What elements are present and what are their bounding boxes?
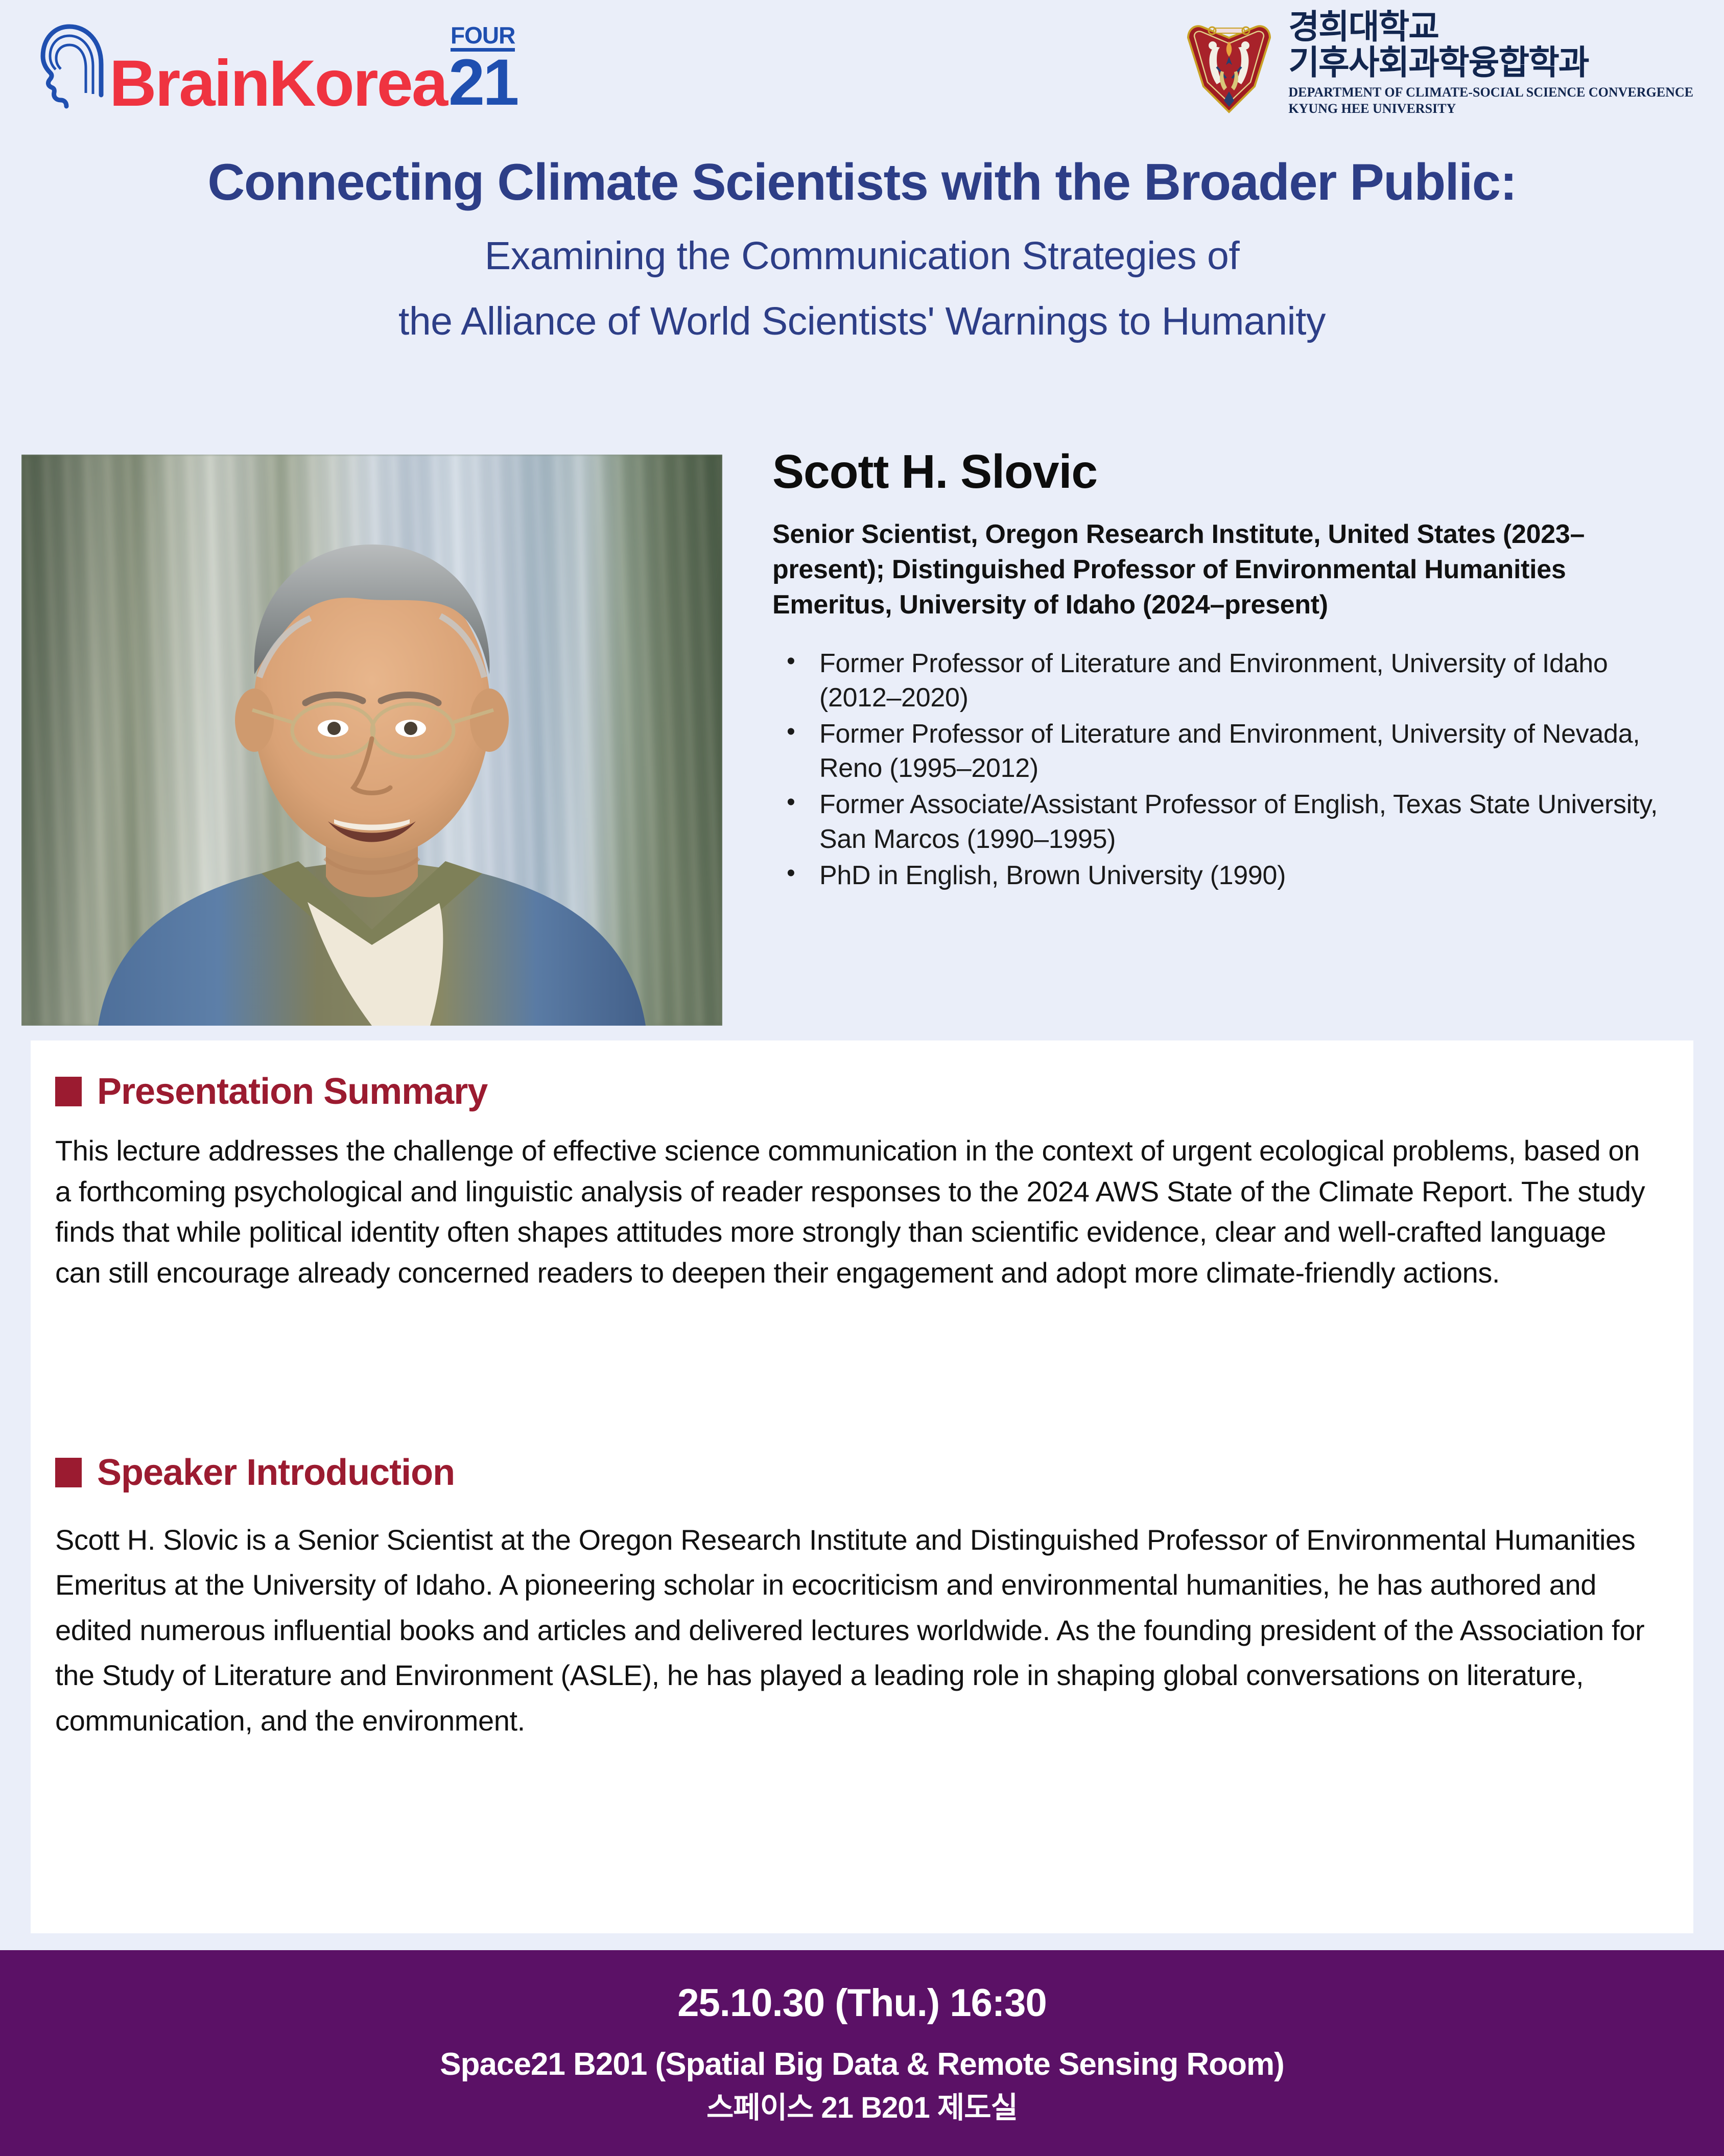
khu-english-university: KYUNG HEE UNIVERSITY — [1288, 101, 1693, 117]
speaker-credentials-list: Former Professor of Literature and Envir… — [772, 647, 1692, 893]
brain-head-icon — [36, 19, 112, 114]
page-subtitle-line-2: the Alliance of World Scientists' Warnin… — [0, 291, 1724, 353]
page-subtitle-line-1: Examining the Communication Strategies o… — [0, 225, 1724, 288]
brain-korea-21-logo: BrainKorea FOUR 21 — [36, 19, 517, 114]
event-venue-korean: 스페이스 21 B201 제도실 — [706, 2090, 1018, 2127]
speaker-introduction-section: Speaker Introduction Scott H. Slovic is … — [55, 1454, 1649, 1743]
list-item: Former Professor of Literature and Envir… — [772, 717, 1692, 786]
event-venue-english: Space21 B201 (Spatial Big Data & Remote … — [440, 2045, 1284, 2084]
event-footer: 25.10.30 (Thu.) 16:30 Space21 B201 (Spat… — [0, 1950, 1724, 2156]
speaker-affiliation: Senior Scientist, Oregon Research Instit… — [772, 517, 1692, 622]
portrait-figure — [21, 455, 722, 1026]
section-title: Speaker Introduction — [97, 1454, 455, 1491]
speaker-name: Scott H. Slovic — [772, 445, 1692, 497]
square-bullet-icon — [55, 1077, 82, 1106]
khu-english-department: DEPARTMENT OF CLIMATE-SOCIAL SCIENCE CON… — [1288, 84, 1693, 101]
speaker-details: Scott H. Slovic Senior Scientist, Oregon… — [772, 445, 1692, 895]
university-crest-icon — [1183, 10, 1275, 117]
content-card: Presentation Summary This lecture addres… — [31, 1040, 1693, 1933]
list-item: Former Associate/Assistant Professor of … — [772, 788, 1692, 856]
list-item: Former Professor of Literature and Envir… — [772, 647, 1692, 715]
logo-brain-text: Brain — [109, 47, 269, 120]
poster-header: BrainKorea FOUR 21 — [0, 0, 1724, 138]
square-bullet-icon — [55, 1458, 82, 1487]
event-datetime: 25.10.30 (Thu.) 16:30 — [677, 1980, 1046, 2026]
section-title: Presentation Summary — [97, 1073, 487, 1110]
logo-korea-text: Korea — [269, 47, 446, 120]
presentation-summary-heading: Presentation Summary — [55, 1073, 1649, 1110]
presentation-summary-section: Presentation Summary This lecture addres… — [55, 1073, 1649, 1293]
logo-21-text: 21 — [448, 52, 517, 114]
speaker-section: Scott H. Slovic Senior Scientist, Oregon… — [0, 445, 1724, 1028]
khu-korean-department: 기후사회과학융합학과 — [1288, 45, 1693, 81]
title-block: Connecting Climate Scientists with the B… — [0, 152, 1724, 352]
presentation-summary-body: This lecture addresses the challenge of … — [55, 1130, 1649, 1293]
kyung-hee-university-logo: 경희대학교 기후사회과학융합학과 DEPARTMENT OF CLIMATE-S… — [1183, 9, 1693, 117]
khu-korean-name: 경희대학교 — [1288, 9, 1693, 45]
page-title: Connecting Climate Scientists with the B… — [0, 152, 1724, 213]
speaker-portrait-photo — [21, 455, 722, 1026]
speaker-introduction-heading: Speaker Introduction — [55, 1454, 1649, 1491]
list-item: PhD in English, Brown University (1990) — [772, 859, 1692, 893]
speaker-introduction-body: Scott H. Slovic is a Senior Scientist at… — [55, 1518, 1649, 1743]
